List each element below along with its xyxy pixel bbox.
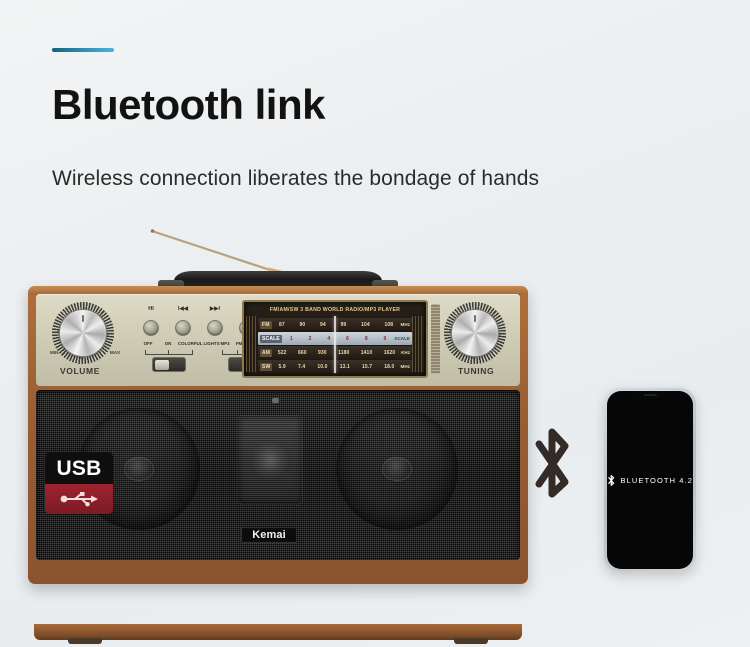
usb-label-panel: USB <box>45 452 113 484</box>
dial-values-fm: 87 90 94 99 104 108 <box>272 322 401 328</box>
cabinet-foot-left <box>68 638 102 644</box>
dial-unit-scale: SCALE <box>394 336 410 341</box>
dial-unit-am: KHz <box>401 350 410 355</box>
dial-band-tag-am: AM <box>260 349 272 357</box>
indicator-led <box>272 398 279 403</box>
radio-cabinet: MIN MAX VOLUME HI I◀◀ ▶▶I ↺ MODE <box>28 286 528 584</box>
dial-tick: 2 <box>309 336 312 342</box>
dial-band-tag-fm: FM <box>260 321 272 329</box>
power-option-off: OFF <box>140 342 156 347</box>
dial-tick: 13.1 <box>340 364 350 370</box>
volume-knob-indicator <box>82 315 84 322</box>
cabinet-base <box>34 624 522 640</box>
dial-left-trim <box>246 316 258 372</box>
dial-tick: 522 <box>278 350 287 356</box>
dial-tick: 1180 <box>338 350 349 356</box>
button-label-next: ▶▶I <box>204 306 226 312</box>
phone-earpiece <box>644 394 657 396</box>
dial-tick: 7.4 <box>298 364 305 370</box>
usb-trident-icon <box>59 491 99 507</box>
dial-tick: 104 <box>361 322 370 328</box>
smartphone: BLUETOOTH 4.2 <box>604 388 696 572</box>
dial-tick: 1620 <box>384 350 396 356</box>
power-switch-bracket <box>145 350 193 355</box>
power-switch[interactable] <box>152 357 186 372</box>
usb-label: USB <box>57 458 102 479</box>
power-switch-thumb <box>155 360 169 370</box>
usb-badge: USB <box>45 452 113 514</box>
brand-badge: Kemai <box>241 527 297 543</box>
dial-tick: 108 <box>384 322 393 328</box>
dial-tick: 660 <box>298 350 307 356</box>
volume-knob-group[interactable]: MIN MAX VOLUME <box>52 302 124 374</box>
volume-knob-label: VOLUME <box>60 366 100 376</box>
power-switch-tick <box>168 350 169 355</box>
phone-bluetooth-label: BLUETOOTH 4.2 <box>620 476 693 485</box>
dial-band-tag-sw: SW <box>260 363 272 371</box>
bluetooth-icon <box>607 474 615 487</box>
radio-product-image: MIN MAX VOLUME HI I◀◀ ▶▶I ↺ MODE <box>28 228 528 586</box>
dial-band-tag-scale: SCALE <box>260 335 282 343</box>
page-subtitle: Wireless connection liberates the bondag… <box>52 167 539 191</box>
dial-tick: 1 <box>290 336 293 342</box>
previous-button[interactable] <box>175 320 191 336</box>
woofer-left-dustcap <box>124 457 154 481</box>
tuning-knob-label: TUNING <box>458 366 494 376</box>
tweeter-dome <box>250 440 290 480</box>
dial-tick: 5.9 <box>279 364 286 370</box>
woofer-right-dustcap <box>382 457 412 481</box>
cabinet-foot-right <box>454 638 488 644</box>
power-option-lights: COLORFUL LIGHTS <box>178 342 210 347</box>
hi-button[interactable] <box>143 320 159 336</box>
dial-side-grille <box>431 304 440 374</box>
source-switch-tick-1 <box>237 350 238 355</box>
tuning-knob-group[interactable]: TUNING <box>444 302 516 374</box>
center-tweeter <box>238 416 302 504</box>
dial-tick: 15.7 <box>362 364 372 370</box>
frequency-dial-display: FM/AM/SW 3 BAND WORLD RADIO/MP3 PLAYER F… <box>242 300 428 378</box>
dial-tick: 94 <box>320 322 326 328</box>
dial-tick: 10.0 <box>317 364 327 370</box>
button-label-prev: I◀◀ <box>172 306 194 312</box>
dial-tick: 18.0 <box>384 364 394 370</box>
volume-knob[interactable] <box>59 309 107 357</box>
brand-name: Kemai <box>252 530 286 541</box>
accent-bar <box>52 48 114 52</box>
dial-unit-sw: MHz <box>401 364 410 369</box>
dial-tick: 99 <box>341 322 347 328</box>
dial-values-am: 522 660 930 1180 1410 1620 <box>272 350 401 356</box>
control-panel: MIN MAX VOLUME HI I◀◀ ▶▶I ↺ MODE <box>36 294 520 386</box>
next-button[interactable] <box>207 320 223 336</box>
power-switch-group[interactable]: OFF ON COLORFUL LIGHTS <box>140 342 216 382</box>
dial-right-trim <box>412 316 424 372</box>
dial-tick: 1410 <box>361 350 373 356</box>
phone-status-row: BLUETOOTH 4.2 <box>607 474 693 487</box>
dial-tick: 90 <box>300 322 306 328</box>
phone-notch <box>633 391 667 399</box>
tuning-knob[interactable] <box>451 309 499 357</box>
source-option-mp3: MP3 <box>218 342 232 347</box>
power-option-on: ON <box>160 342 176 347</box>
page-title: Bluetooth link <box>52 82 325 128</box>
volume-min-label: MIN <box>50 350 58 355</box>
dial-tick: 930 <box>318 350 327 356</box>
dial-values-scale: 1 2 4 6 8 9 <box>282 336 394 342</box>
product-feature-banner: Bluetooth link Wireless connection liber… <box>0 0 750 647</box>
dial-tick: 8 <box>365 336 368 342</box>
dial-tick: 6 <box>346 336 349 342</box>
usb-icon-panel <box>45 484 113 514</box>
dial-needle[interactable] <box>334 316 336 373</box>
dial-values-sw: 5.9 7.4 10.0 13.1 15.7 18.0 <box>272 364 400 370</box>
dial-tick: 4 <box>327 336 330 342</box>
bluetooth-icon <box>525 424 579 506</box>
volume-max-label: MAX <box>110 350 120 355</box>
dial-title: FM/AM/SW 3 BAND WORLD RADIO/MP3 PLAYER <box>244 307 426 313</box>
button-label-hi: HI <box>140 306 162 312</box>
woofer-right <box>336 408 458 530</box>
tuning-knob-indicator <box>474 315 476 322</box>
dial-unit-fm: MHz <box>401 322 410 327</box>
dial-tick: 9 <box>384 336 387 342</box>
dial-tick: 87 <box>279 322 285 328</box>
phone-screen[interactable]: BLUETOOTH 4.2 <box>607 391 693 569</box>
